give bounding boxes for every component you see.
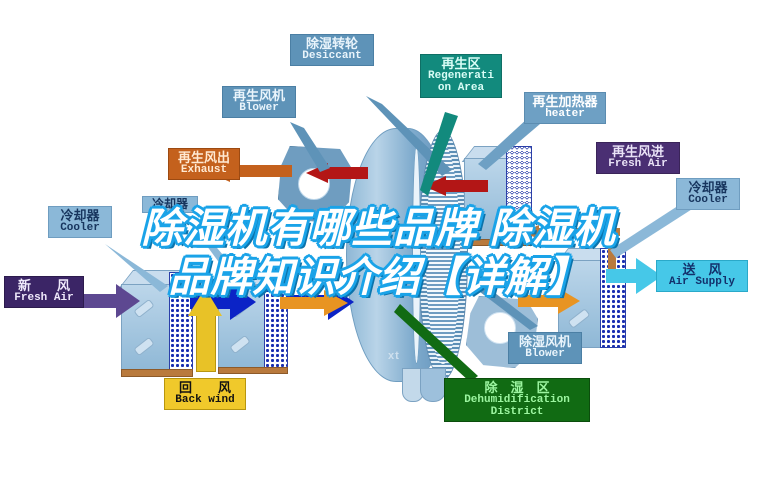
flow-process-purple-arrow <box>84 284 140 318</box>
label-regeneration-blower-en: Blower <box>227 103 291 115</box>
label-regeneration-area-cn: 再生区 <box>425 57 497 71</box>
label-cooler-right[interactable]: 冷却器 Cooler <box>676 178 740 210</box>
label-cooler-left-a-en: Cooler <box>53 223 107 235</box>
label-dehumidification-blower-en: Blower <box>513 349 577 361</box>
label-cooler-left-a[interactable]: 冷却器 Cooler <box>48 206 112 238</box>
label-dehumidification-blower[interactable]: 除湿风机 Blower <box>508 332 582 364</box>
label-regeneration-blower[interactable]: 再生风机 Blower <box>222 86 296 118</box>
label-air-supply-cn: 送 风 <box>661 263 743 277</box>
label-fresh-air-in-en: Fresh Air <box>9 293 79 305</box>
component-drain-pan <box>402 368 446 402</box>
label-cooler-right-cn: 冷却器 <box>681 181 735 195</box>
label-fresh-air-in-cn: 新 风 <box>9 279 79 293</box>
label-dehumidification-blower-cn: 除湿风机 <box>513 335 577 349</box>
label-desiccant-wheel[interactable]: 除湿转轮 Desiccant <box>290 34 374 66</box>
flow-dry-air-1-arrow <box>280 290 348 316</box>
label-regeneration-fresh-air-in[interactable]: 再生风进 Fresh Air <box>596 142 680 174</box>
label-exhaust[interactable]: 再生风出 Exhaust <box>168 148 240 180</box>
label-back-wind[interactable]: 回 风 Back wind <box>164 378 246 410</box>
label-cooler-left-b-cn: 冷却器 <box>146 198 194 211</box>
label-dehumidification-district[interactable]: 除 湿 区 Dehumidification District <box>444 378 590 422</box>
dehumidifier-diagram: xt <box>0 0 757 488</box>
label-air-supply[interactable]: 送 风 Air Supply <box>656 260 748 292</box>
label-back-wind-en: Back wind <box>169 395 241 407</box>
label-regeneration-area-en: Regenerati on Area <box>425 71 497 95</box>
flow-back-wind-arrow <box>188 288 222 370</box>
label-air-supply-en: Air Supply <box>661 277 743 289</box>
label-cooler-right-en: Cooler <box>681 195 735 207</box>
label-regeneration-area[interactable]: 再生区 Regenerati on Area <box>420 54 502 98</box>
label-back-wind-cn: 回 风 <box>169 381 241 395</box>
label-exhaust-cn: 再生风出 <box>173 151 235 165</box>
label-regeneration-fresh-air-in-cn: 再生风进 <box>601 145 675 159</box>
label-regeneration-blower-cn: 再生风机 <box>227 89 291 103</box>
label-exhaust-en: Exhaust <box>173 165 235 177</box>
flow-supply-air-arrow <box>606 258 662 294</box>
label-regeneration-heater[interactable]: 再生加热器 heater <box>524 92 606 124</box>
component-regeneration-blower <box>278 146 350 220</box>
label-regeneration-fresh-air-in-en: Fresh Air <box>601 159 675 171</box>
flow-regen-hot-left-arrow <box>306 163 368 183</box>
label-cooler-left-b[interactable]: 冷却器 <box>142 196 198 213</box>
label-desiccant-wheel-en: Desiccant <box>295 51 369 63</box>
label-regeneration-heater-en: heater <box>529 109 601 121</box>
label-fresh-air-in[interactable]: 新 风 Fresh Air <box>4 276 84 308</box>
label-dehumidification-district-cn: 除 湿 区 <box>449 381 585 395</box>
flow-dry-air-2-arrow <box>518 288 580 314</box>
label-dehumidification-district-en: Dehumidification District <box>449 395 585 419</box>
label-desiccant-wheel-cn: 除湿转轮 <box>295 37 369 51</box>
label-cooler-left-a-cn: 冷却器 <box>53 209 107 223</box>
label-regeneration-heater-cn: 再生加热器 <box>529 95 601 109</box>
watermark: xt <box>388 350 400 362</box>
flow-regen-hot-right-arrow <box>424 176 488 196</box>
